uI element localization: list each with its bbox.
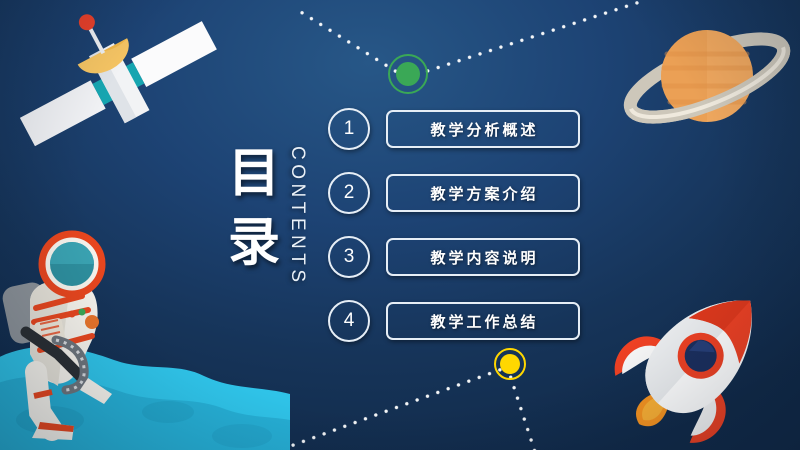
menu-item-4[interactable]: 教学工作总结 [386, 302, 580, 340]
menu-item-1[interactable]: 教学分析概述 [386, 110, 580, 148]
rocket-icon [606, 276, 786, 446]
menu-item-3-label: 教学内容说明 [427, 247, 538, 268]
contents-menu: 1 教学分析概述 2 教学方案介绍 3 教学内容说明 4 教学工作总结 [328, 108, 580, 342]
satellite-icon [12, 6, 222, 156]
green-node [388, 54, 428, 94]
menu-item-3[interactable]: 教学内容说明 [386, 238, 580, 276]
yellow-node [494, 348, 526, 380]
item-number-4: 4 [328, 300, 370, 342]
page-title-cn: 目录 [220, 140, 290, 277]
menu-item-2[interactable]: 教学方案介绍 [386, 174, 580, 212]
astronaut-icon [0, 236, 176, 436]
list-item[interactable]: 4 教学工作总结 [328, 300, 580, 342]
item-number-3: 3 [328, 236, 370, 278]
item-number-2: 2 [328, 172, 370, 214]
dotted-line-upper-left [299, 10, 401, 76]
menu-item-4-label: 教学工作总结 [427, 311, 538, 332]
menu-item-2-label: 教学方案介绍 [427, 183, 538, 204]
presentation-slide: 目录 CONTENTS 1 教学分析概述 2 教学方案介绍 3 教学内容说明 4… [0, 0, 800, 450]
dotted-line-lower-right [507, 371, 542, 450]
list-item[interactable]: 2 教学方案介绍 [328, 172, 580, 214]
list-item[interactable]: 3 教学内容说明 [328, 236, 580, 278]
list-item[interactable]: 1 教学分析概述 [328, 108, 580, 150]
yellow-node-core [500, 354, 520, 374]
saturn-planet-icon [622, 14, 792, 142]
menu-item-1-label: 教学分析概述 [427, 119, 538, 140]
green-node-core [396, 62, 420, 86]
dotted-line-upper-right [411, 0, 640, 78]
contents-title-block: 目录 CONTENTS [214, 140, 334, 300]
item-number-1: 1 [328, 108, 370, 150]
page-title-en: CONTENTS [286, 146, 308, 287]
